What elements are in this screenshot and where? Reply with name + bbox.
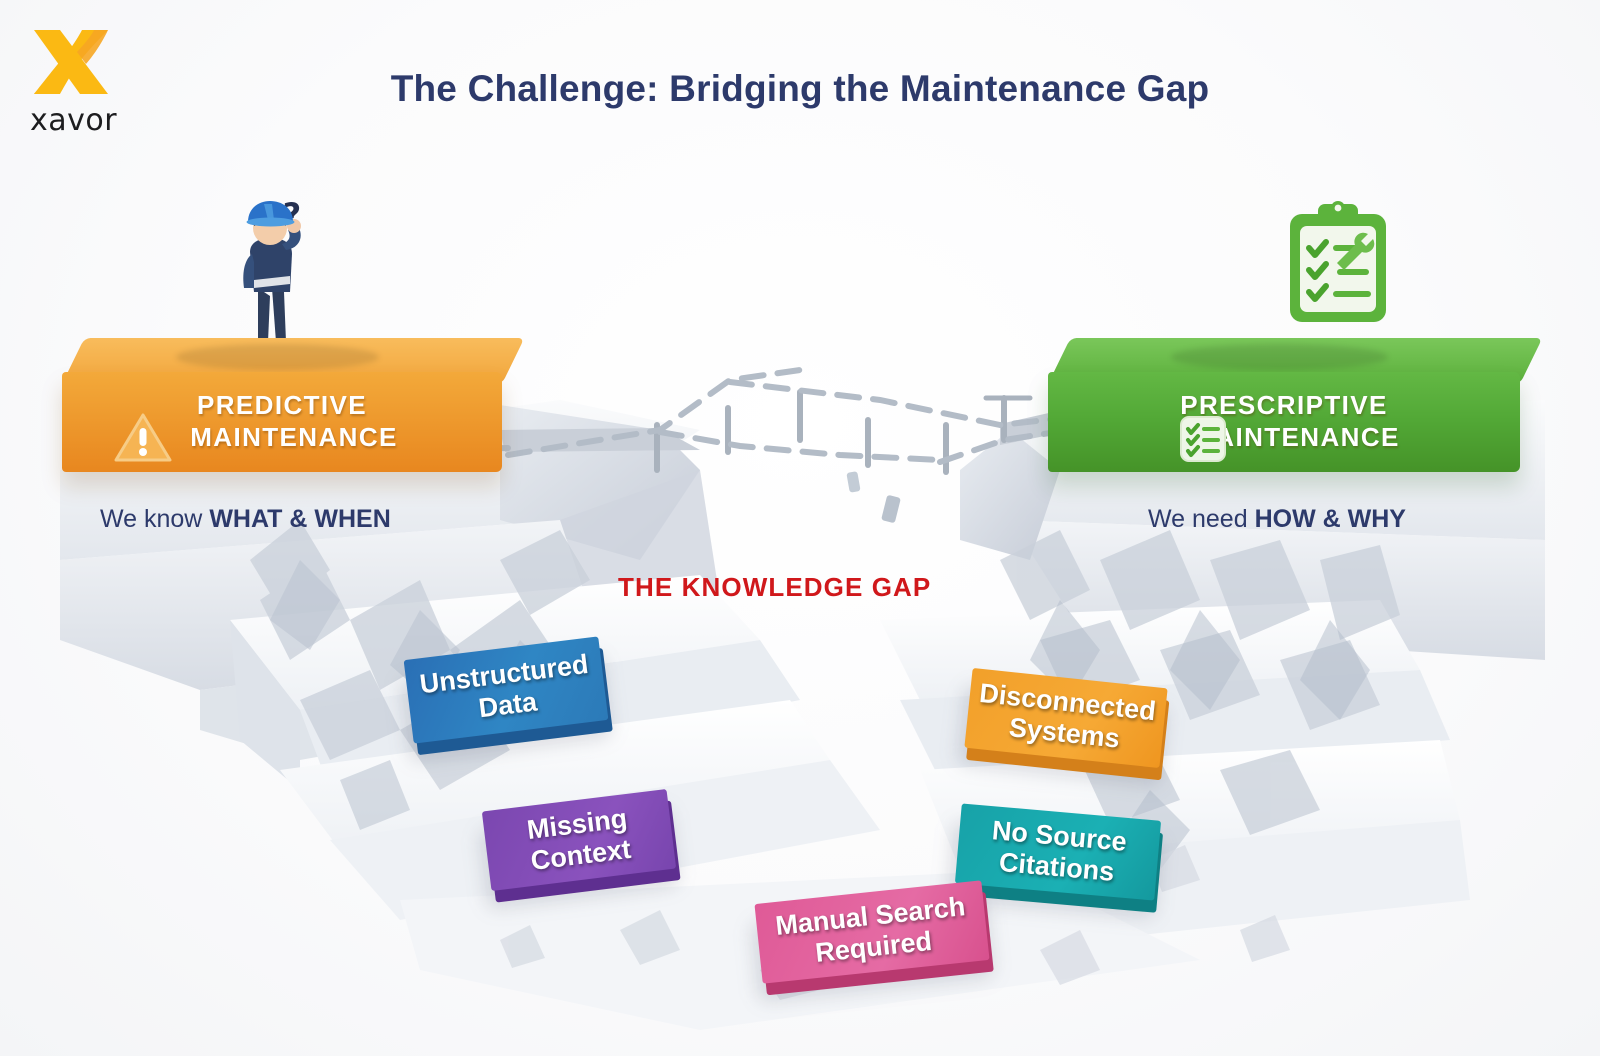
prescriptive-maintenance-platform[interactable]: PRESCRIPTIVE MAINTENANCE [1048, 338, 1520, 483]
clipboard-checklist-icon [1282, 200, 1394, 328]
platform-front-face [1048, 372, 1520, 472]
block-label-line2: Data [477, 686, 539, 724]
platform-top-shadow [1171, 344, 1388, 370]
gap-block-no-source-citations[interactable]: No Source Citations [955, 803, 1161, 900]
warning-triangle-icon [114, 412, 172, 464]
slide-canvas: xavor The Challenge: Bridging the Mainte… [0, 0, 1600, 1056]
brand-wordmark: xavor [30, 106, 150, 136]
confused-worker-figure-icon [206, 196, 336, 356]
caption-emphasis: HOW & WHY [1255, 505, 1406, 533]
caption-prefix: We know [100, 505, 209, 533]
checklist-wrench-icon [1178, 414, 1228, 464]
caption-emphasis: WHAT & WHEN [209, 505, 390, 533]
page-title: The Challenge: Bridging the Maintenance … [0, 68, 1600, 110]
right-platform-caption: We need HOW & WHY [1148, 505, 1406, 534]
predictive-maintenance-platform[interactable]: PREDICTIVE MAINTENANCE [62, 338, 502, 483]
caption-prefix: We need [1148, 505, 1255, 533]
knowledge-gap-label: THE KNOWLEDGE GAP [618, 572, 931, 603]
platform-top-shadow [176, 344, 378, 370]
left-platform-caption: We know WHAT & WHEN [100, 505, 391, 534]
